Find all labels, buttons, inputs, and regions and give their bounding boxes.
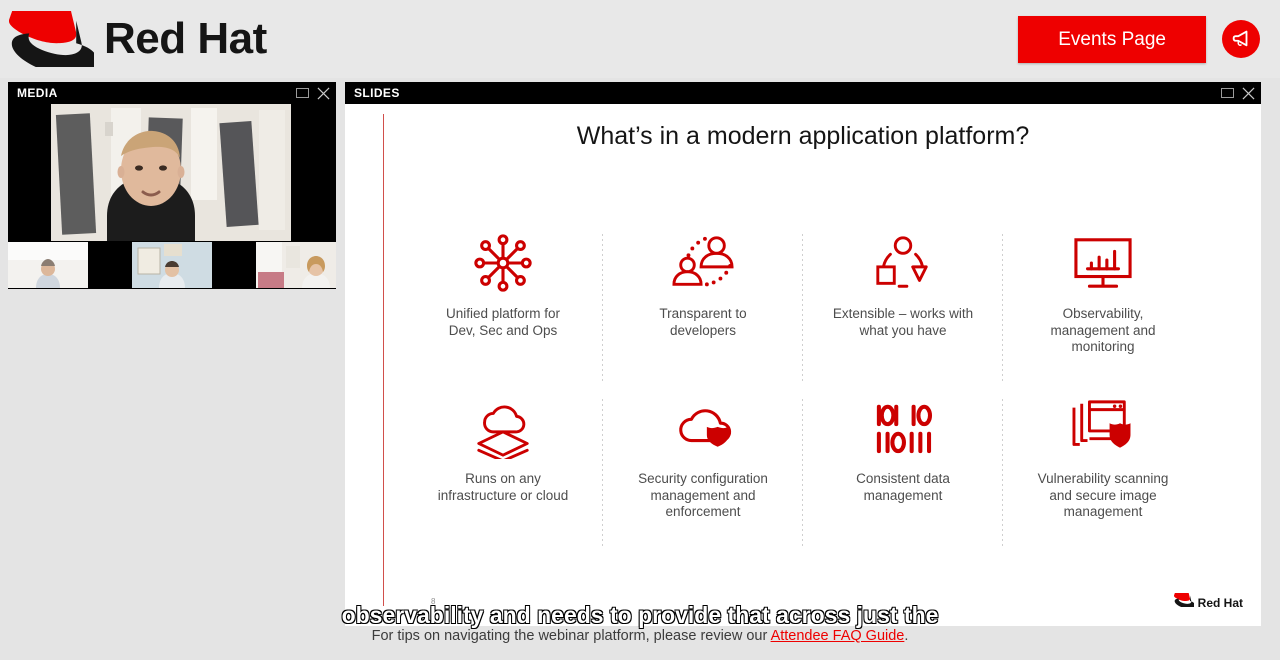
participant-thumbnail[interactable] (256, 242, 336, 288)
footnote-prefix: For tips on navigating the webinar platf… (372, 628, 771, 644)
feature-label: Unified platform forDev, Sec and Ops (446, 306, 560, 339)
feature-cell: Transparent todevelopers (603, 226, 803, 391)
two-people-icon (668, 226, 738, 300)
feature-label: Vulnerability scanningand secure imagema… (1038, 471, 1169, 521)
slide-accent-line (383, 114, 384, 606)
feature-label: Security configurationmanagement andenfo… (638, 471, 768, 521)
feature-label: Runs on anyinfrastructure or cloud (438, 471, 569, 504)
feature-cell: Security configurationmanagement andenfo… (603, 391, 803, 556)
red-hat-fedora-logo-icon (1174, 593, 1194, 612)
feature-label: Consistent datamanagement (856, 471, 950, 504)
slide-red-hat-logo: Red Hat (1174, 593, 1243, 612)
participant-thumbnail[interactable] (8, 242, 88, 288)
feature-grid: Unified platform forDev, Sec and Ops (403, 226, 1203, 556)
participant-thumbnail[interactable] (132, 242, 212, 288)
slide-canvas[interactable]: What’s in a modern application platform? (345, 104, 1261, 626)
network-hub-icon (472, 226, 534, 300)
shapes-circle-icon (870, 226, 936, 300)
footnote-suffix: . (904, 628, 908, 644)
feature-cell: Observability,management andmonitoring (1003, 226, 1203, 391)
slides-panel-title: SLIDES (354, 86, 400, 100)
media-panel-title: MEDIA (17, 86, 58, 100)
red-hat-fedora-logo-icon (8, 11, 94, 67)
main-video-tile[interactable] (51, 104, 291, 241)
slides-panel-header: SLIDES (345, 82, 1261, 104)
media-panel: MEDIA (8, 82, 336, 289)
media-body (8, 104, 336, 289)
participant-thumbnails (8, 242, 336, 288)
feature-cell: Extensible – works withwhat you have (803, 226, 1003, 391)
restore-window-icon[interactable] (296, 88, 309, 98)
feature-cell: Vulnerability scanningand secure imagema… (1003, 391, 1203, 556)
top-bar: Red Hat Events Page (0, 0, 1280, 78)
webinar-console: Red Hat Events Page MEDIA (0, 0, 1280, 660)
feature-cell: Consistent datamanagement (803, 391, 1003, 556)
attendee-faq-guide-link[interactable]: Attendee FAQ Guide (771, 628, 905, 644)
windows-shield-icon (1068, 391, 1138, 465)
brand-name: Red Hat (104, 17, 267, 61)
slide-title: What’s in a modern application platform? (345, 122, 1261, 151)
cloud-layers-icon (471, 391, 535, 465)
cloud-shield-icon (669, 391, 737, 465)
restore-window-icon[interactable] (1221, 88, 1234, 98)
events-page-button[interactable]: Events Page (1018, 16, 1206, 63)
close-icon[interactable] (317, 87, 330, 100)
media-window-controls (296, 87, 330, 100)
top-bar-actions: Events Page (1018, 16, 1280, 63)
binary-data-icon (871, 391, 935, 465)
slide-logo-text: Red Hat (1198, 596, 1243, 610)
footnote: For tips on navigating the webinar platf… (0, 628, 1280, 644)
slides-window-controls (1221, 87, 1255, 100)
feature-cell: Unified platform forDev, Sec and Ops (403, 226, 603, 391)
feature-label: Observability,management andmonitoring (1050, 306, 1155, 356)
media-panel-header: MEDIA (8, 82, 336, 104)
feature-label: Extensible – works withwhat you have (833, 306, 973, 339)
monitor-chart-icon (1070, 226, 1136, 300)
brand: Red Hat (0, 11, 267, 67)
announcement-button[interactable] (1222, 20, 1260, 58)
megaphone-icon (1230, 27, 1252, 52)
feature-cell: Runs on anyinfrastructure or cloud (403, 391, 603, 556)
slide-page-number: 8 (431, 597, 435, 606)
feature-label: Transparent todevelopers (659, 306, 746, 339)
close-icon[interactable] (1242, 87, 1255, 100)
slides-panel: SLIDES What’s in a modern application pl… (345, 82, 1261, 626)
